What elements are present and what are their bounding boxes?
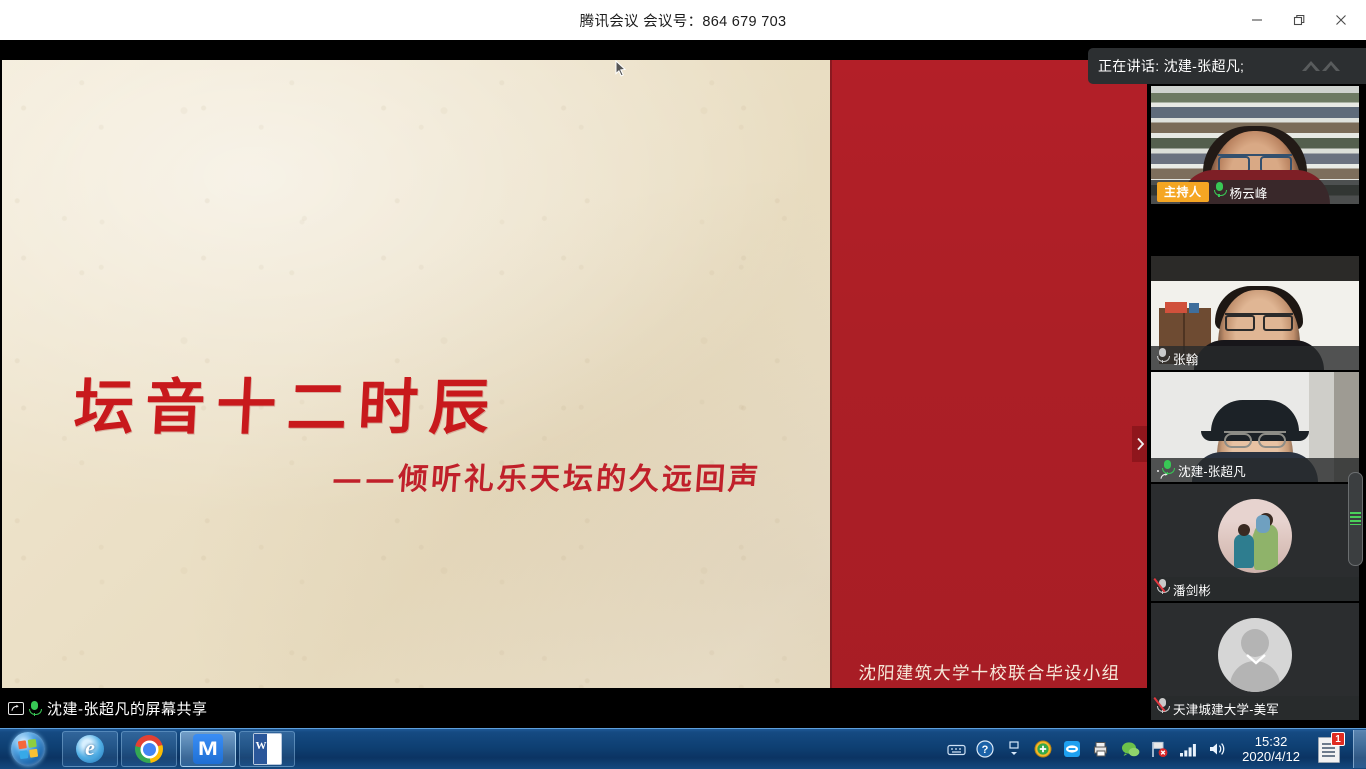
participant-namebar: 天津城建大学-美军 [1151, 696, 1359, 720]
title-bar: 腾讯会议 会议号：864 679 703 [0, 0, 1366, 41]
show-hidden-icons-icon[interactable] [1004, 739, 1024, 759]
participant-name: 潘剑彬 [1173, 580, 1211, 599]
svg-text:?: ? [982, 744, 989, 756]
tencent-meeting-icon: M [193, 734, 223, 764]
keyboard-icon[interactable] [946, 739, 966, 759]
printer-icon[interactable] [1091, 739, 1111, 759]
participant-tile[interactable]: 天津城建大学-美军 [1151, 603, 1359, 720]
clock-date: 2020/4/12 [1242, 749, 1300, 764]
taskbar-item-tencent-meeting[interactable]: M [180, 731, 236, 767]
document-notification-icon[interactable]: 1 [1314, 734, 1344, 764]
participant-namebar: 张翰 [1151, 346, 1359, 370]
wechat-icon[interactable] [1120, 739, 1140, 759]
mic-muted-icon [1157, 579, 1168, 599]
credit-line-org: 沈阳建筑大学十校联合毕设小组 [858, 662, 1147, 687]
participant-namebar: 主持人 杨云峰 [1151, 180, 1359, 204]
signal-bars-icon[interactable] [1178, 739, 1198, 759]
shared-screen-area: 坛音十二时辰 ——倾听礼乐天坛的久远回声 沈阳建筑大学十校联合毕设小组 指导老师… [0, 60, 1147, 708]
slide-red-panel [830, 60, 1147, 708]
participant-tile[interactable]: 沈建-张超凡 [1151, 372, 1359, 482]
participant-name: 天津城建大学-美军 [1173, 699, 1279, 718]
volume-icon[interactable] [1207, 739, 1227, 759]
participant-rail[interactable]: 主持人 杨云峰 张翰 [1147, 40, 1366, 728]
show-desktop-button[interactable] [1353, 730, 1366, 768]
participant-namebar: 潘剑彬 [1151, 577, 1359, 601]
tencent-meeting-window: 腾讯会议 会议号：864 679 703 坛音十二时辰 ——倾听礼乐天坛的 [0, 0, 1366, 768]
restore-icon[interactable] [1278, 5, 1320, 35]
mic-idle-icon [1157, 348, 1168, 368]
network-error-icon[interactable] [1149, 739, 1169, 759]
presentation-slide: 坛音十二时辰 ——倾听礼乐天坛的久远回声 沈阳建筑大学十校联合毕设小组 指导老师… [2, 60, 1147, 708]
system-tray: ? [946, 729, 1300, 769]
taskbar: M ? [0, 728, 1366, 769]
participant-scrollbar[interactable] [1348, 472, 1363, 566]
slide-title: 坛音十二时辰 [72, 378, 501, 438]
mic-muted-icon [1157, 698, 1168, 718]
windows-start-orb[interactable] [2, 730, 54, 768]
participant-name: 杨云峰 [1230, 183, 1268, 202]
screen-share-status-bar: 沈建-张超凡的屏幕共享 [0, 688, 1147, 728]
mic-on-icon [1214, 182, 1225, 202]
safe-blue-icon[interactable] [1062, 739, 1082, 759]
participant-name: 沈建-张超凡 [1178, 461, 1246, 480]
speaking-banner-text: 正在讲话: 沈建-张超凡; [1098, 56, 1244, 76]
host-badge: 主持人 [1157, 182, 1209, 202]
window-title: 腾讯会议 会议号：864 679 703 [0, 0, 1366, 40]
screen-share-icon [8, 702, 24, 715]
taskbar-items: M [62, 731, 295, 767]
meeting-body: 坛音十二时辰 ——倾听礼乐天坛的久远回声 沈阳建筑大学十校联合毕设小组 指导老师… [0, 40, 1366, 728]
clock[interactable]: 15:32 2020/4/12 [1242, 734, 1300, 765]
add-green-icon[interactable] [1033, 739, 1053, 759]
minimize-icon[interactable] [1236, 5, 1278, 35]
scrollbar-grip[interactable] [1350, 512, 1361, 525]
notification-badge: 1 [1331, 732, 1345, 746]
taskbar-item-google-chrome[interactable] [121, 731, 177, 767]
chevron-right-icon[interactable] [1132, 426, 1147, 462]
close-icon[interactable] [1320, 5, 1362, 35]
share-status-label: 沈建-张超凡的屏幕共享 [47, 698, 208, 719]
participant-name: 张翰 [1173, 349, 1198, 368]
slide-subtitle: ——倾听礼乐天坛的久远回声 [331, 465, 762, 495]
taskbar-item-internet-explorer[interactable] [62, 731, 118, 767]
window-controls [1236, 0, 1362, 40]
speaking-banner: 正在讲话: 沈建-张超凡; [1088, 48, 1366, 84]
taskbar-item-microsoft-word[interactable] [239, 731, 295, 767]
help-icon[interactable]: ? [975, 739, 995, 759]
chrome-icon [135, 735, 163, 763]
word-icon [253, 733, 282, 765]
participant-namebar: 沈建-张超凡 [1151, 458, 1359, 482]
participant-tile[interactable]: 张翰 [1151, 256, 1359, 370]
mic-on-icon [29, 701, 40, 716]
participant-tile[interactable]: 潘剑彬 [1151, 484, 1359, 601]
participant-tile[interactable]: 主持人 杨云峰 [1151, 86, 1359, 204]
clock-time: 15:32 [1242, 734, 1300, 749]
internet-explorer-icon [76, 735, 104, 763]
tencent-meeting-logo [1298, 57, 1354, 75]
